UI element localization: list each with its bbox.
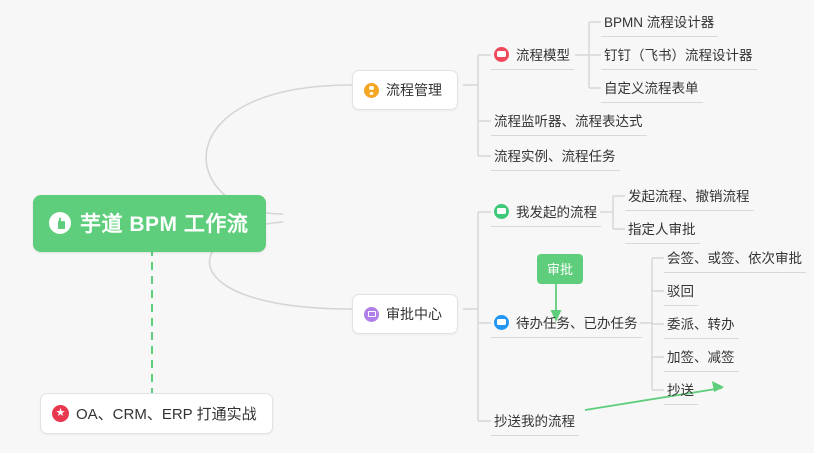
node-dingtalk-feishu-designer[interactable]: 钉钉（飞书）流程设计器 xyxy=(601,41,757,70)
node-cc[interactable]: 抄送 xyxy=(664,376,698,405)
node-label: 发起流程、撤销流程 xyxy=(628,185,750,205)
node-start-cancel-process[interactable]: 发起流程、撤销流程 xyxy=(625,182,754,211)
node-add-remove-sign[interactable]: 加签、减签 xyxy=(664,343,739,372)
branch-label: 审批中心 xyxy=(386,304,442,324)
node-label: 自定义流程表单 xyxy=(604,77,699,97)
root-node[interactable]: 芋道 BPM 工作流 xyxy=(33,195,266,252)
branch-node-approval-center[interactable]: 审批中心 xyxy=(352,294,458,334)
folder-red-icon xyxy=(494,47,509,62)
node-label: 会签、或签、依次审批 xyxy=(667,247,802,267)
node-label: 钉钉（飞书）流程设计器 xyxy=(604,44,753,64)
node-label: 加签、减签 xyxy=(667,346,735,366)
location-pin-icon xyxy=(364,83,379,98)
node-reject[interactable]: 驳回 xyxy=(664,277,698,306)
node-label: 指定人审批 xyxy=(628,218,696,238)
node-label: 我发起的流程 xyxy=(516,201,597,221)
branch-label: 流程管理 xyxy=(386,80,442,100)
root-label: 芋道 BPM 工作流 xyxy=(80,208,248,238)
node-bpmn-designer[interactable]: BPMN 流程设计器 xyxy=(601,8,718,37)
node-label: 抄送我的流程 xyxy=(494,410,575,430)
tag-node-approval[interactable]: 审批 xyxy=(537,254,583,284)
node-label: 流程实例、流程任务 xyxy=(494,145,616,165)
node-label: 流程监听器、流程表达式 xyxy=(494,110,643,130)
node-label: 驳回 xyxy=(667,280,694,300)
callout-node-integration[interactable]: OA、CRM、ERP 打通实战 xyxy=(40,393,273,434)
folder-blue-icon xyxy=(494,315,509,330)
node-custom-process-form[interactable]: 自定义流程表单 xyxy=(601,74,703,103)
node-label: 流程模型 xyxy=(516,44,570,64)
tag-label: 审批 xyxy=(547,262,573,277)
thumbs-up-icon xyxy=(49,212,71,234)
node-assign-approver[interactable]: 指定人审批 xyxy=(625,215,700,244)
folder-green-icon xyxy=(494,204,509,219)
node-countersign[interactable]: 会签、或签、依次审批 xyxy=(664,244,806,273)
node-label: 抄送 xyxy=(667,379,694,399)
mindmap-canvas: 芋道 BPM 工作流 流程管理 流程模型 BPMN 流程设计器 钉钉（飞书）流程… xyxy=(0,0,814,453)
mail-purple-icon xyxy=(364,307,379,322)
callout-label: OA、CRM、ERP 打通实战 xyxy=(76,403,257,424)
node-cc-to-me[interactable]: 抄送我的流程 xyxy=(491,407,579,436)
node-process-model[interactable]: 流程模型 xyxy=(491,41,574,70)
node-label: BPMN 流程设计器 xyxy=(604,11,714,31)
node-instance-task[interactable]: 流程实例、流程任务 xyxy=(491,142,620,171)
node-label: 委派、转办 xyxy=(667,313,735,333)
node-listener-expression[interactable]: 流程监听器、流程表达式 xyxy=(491,107,647,136)
branch-node-process-management[interactable]: 流程管理 xyxy=(352,70,458,110)
node-label: 待办任务、已办任务 xyxy=(516,312,638,332)
node-delegate-transfer[interactable]: 委派、转办 xyxy=(664,310,739,339)
node-todo-done-task[interactable]: 待办任务、已办任务 xyxy=(491,309,642,338)
star-red-icon xyxy=(52,405,69,422)
node-my-initiated-process[interactable]: 我发起的流程 xyxy=(491,198,601,227)
